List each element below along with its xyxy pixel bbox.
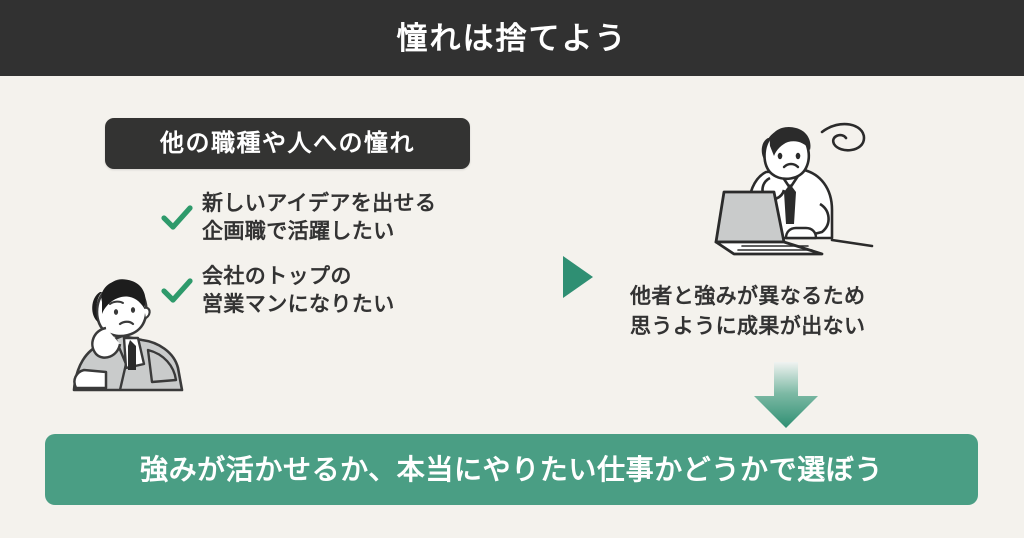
list-item: 会社のトップの 営業マンになりたい bbox=[160, 263, 520, 318]
check-icon bbox=[160, 201, 194, 235]
slide-canvas: 憧れは捨てよう 他の職種や人への憧れ 新しいアイデアを出せる 企画職で活躍したい… bbox=[0, 0, 1024, 538]
list-item-text: 会社のトップの 営業マンになりたい bbox=[202, 263, 395, 318]
result-line-2: 思うように成果が出ない bbox=[630, 312, 960, 342]
list-item-line-2: 企画職で活躍したい bbox=[202, 218, 436, 246]
list-item: 新しいアイデアを出せる 企画職で活躍したい bbox=[160, 190, 520, 245]
list-item-line-1: 新しいアイデアを出せる bbox=[202, 190, 436, 218]
result-line-1: 他者と強みが異なるため bbox=[630, 282, 960, 312]
aspiration-checklist: 新しいアイデアを出せる 企画職で活躍したい 会社のトップの 営業マンになりたい bbox=[160, 190, 520, 337]
conclusion-text: 強みが活かせるか、本当にやりたい仕事かどうかで選ぼう bbox=[140, 456, 883, 484]
conclusion-banner: 強みが活かせるか、本当にやりたい仕事かどうかで選ぼう bbox=[45, 434, 978, 505]
list-item-text: 新しいアイデアを出せる 企画職で活躍したい bbox=[202, 190, 436, 245]
category-label-pill: 他の職種や人への憧れ bbox=[105, 118, 470, 169]
category-label-text: 他の職種や人への憧れ bbox=[160, 132, 415, 156]
page-title: 憧れは捨てよう bbox=[397, 23, 628, 54]
result-text-block: 他者と強みが異なるため 思うように成果が出ない bbox=[630, 282, 960, 343]
troubled-businessman-at-laptop-illustration bbox=[712, 112, 884, 260]
list-item-line-1: 会社のトップの bbox=[202, 263, 395, 291]
thinking-businessman-illustration bbox=[62, 272, 194, 396]
header-bar: 憧れは捨てよう bbox=[0, 0, 1024, 76]
arrow-down-icon bbox=[748, 362, 824, 428]
list-item-line-2: 営業マンになりたい bbox=[202, 291, 395, 319]
arrow-right-icon bbox=[563, 256, 593, 298]
